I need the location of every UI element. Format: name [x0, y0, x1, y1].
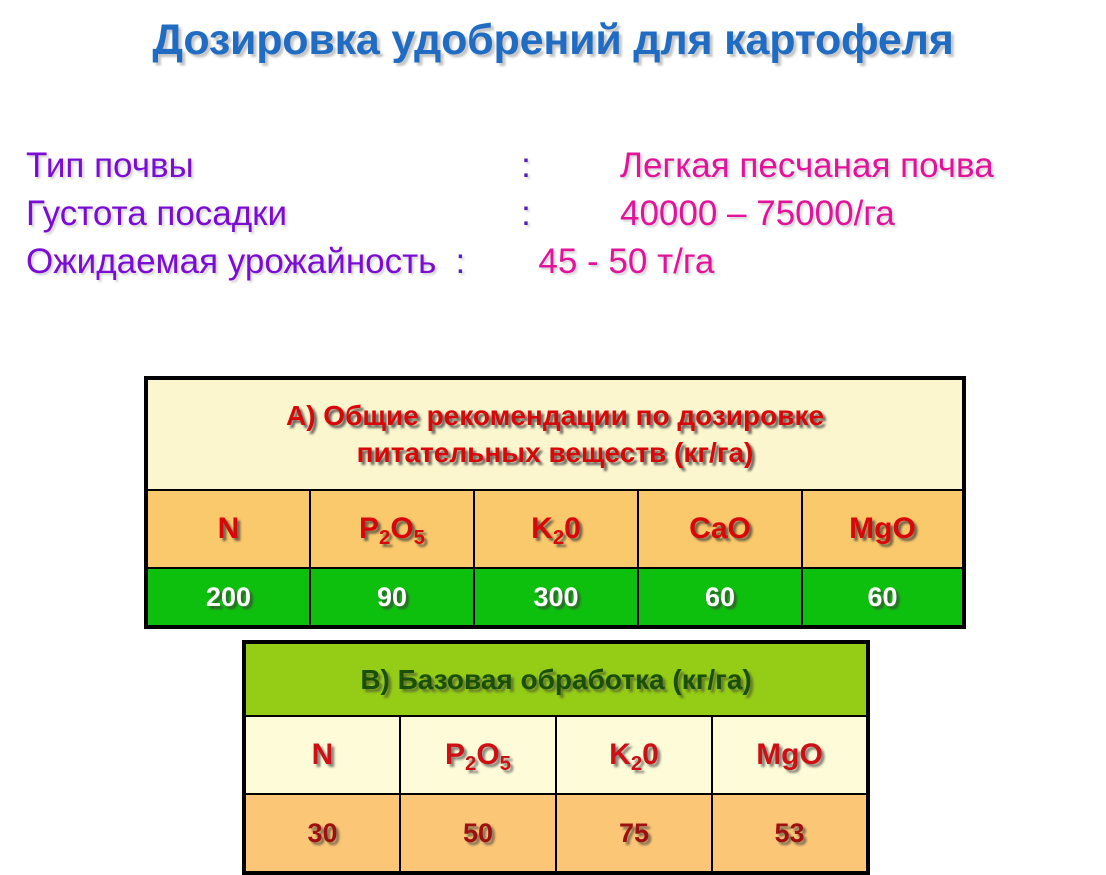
page-title: Дозировка удобрений для картофеля	[0, 16, 1106, 65]
table-a-value-mgo: 60	[802, 568, 964, 627]
table-b-header-n: N	[244, 716, 400, 794]
table-a-value-k2o: 300	[474, 568, 638, 627]
table-row-title: А) Общие рекомендации по дозировке питат…	[146, 378, 964, 490]
table-a-header-mgo: MgO	[802, 490, 964, 568]
table-a-value-p2o5: 90	[310, 568, 474, 627]
info-label-soil-type: Тип почвы	[26, 146, 496, 186]
table-b-header-p2o5: P2O5	[400, 716, 556, 794]
table-row-title: В) Базовая обработка (кг/га)	[244, 642, 868, 716]
table-row-headers: N P2O5 K20 MgO	[244, 716, 868, 794]
info-separator-planting-density: :	[496, 194, 556, 234]
soil-info-block: Тип почвы : Легкая песчаная почва Густот…	[26, 146, 1086, 290]
table-general-recommendations: А) Общие рекомендации по дозировке питат…	[144, 376, 966, 629]
table-b-value-k2o: 75	[556, 794, 712, 873]
info-value-soil-type: Легкая песчаная почва	[556, 146, 994, 186]
table-row-headers: N P2O5 K20 CaO MgO	[146, 490, 964, 568]
table-b-value-p2o5: 50	[400, 794, 556, 873]
table-a-title: А) Общие рекомендации по дозировке питат…	[146, 378, 964, 490]
table-a-header-p2o5: P2O5	[310, 490, 474, 568]
table-a-header-cao: CaO	[638, 490, 802, 568]
info-value-planting-density: 40000 – 75000/га	[556, 194, 895, 234]
info-value-expected-yield: 45 - 50 т/га	[476, 242, 714, 282]
info-row-expected-yield: Ожидаемая урожайность : 45 - 50 т/га	[26, 242, 1086, 290]
table-a-header-n: N	[146, 490, 310, 568]
info-label-planting-density: Густота посадки	[26, 194, 496, 234]
info-separator-soil-type: :	[496, 146, 556, 186]
table-row-values: 30 50 75 53	[244, 794, 868, 873]
table-row-values: 200 90 300 60 60	[146, 568, 964, 627]
info-row-soil-type: Тип почвы : Легкая песчаная почва	[26, 146, 1086, 194]
info-label-expected-yield: Ожидаемая урожайность	[26, 242, 444, 282]
table-a-header-k2o: K20	[474, 490, 638, 568]
table-b-value-mgo: 53	[712, 794, 868, 873]
table-a-value-cao: 60	[638, 568, 802, 627]
table-b-header-k2o: K20	[556, 716, 712, 794]
info-row-planting-density: Густота посадки : 40000 – 75000/га	[26, 194, 1086, 242]
table-base-treatment: В) Базовая обработка (кг/га) N P2O5 K20 …	[242, 640, 870, 875]
table-b-header-mgo: MgO	[712, 716, 868, 794]
table-a-value-n: 200	[146, 568, 310, 627]
table-b-value-n: 30	[244, 794, 400, 873]
table-a-title-line1: А) Общие рекомендации по дозировке	[286, 400, 824, 431]
table-b-title: В) Базовая обработка (кг/га)	[244, 642, 868, 716]
table-a-title-line2: питательных веществ (кг/га)	[357, 437, 754, 468]
info-separator-expected-yield: :	[444, 242, 476, 282]
